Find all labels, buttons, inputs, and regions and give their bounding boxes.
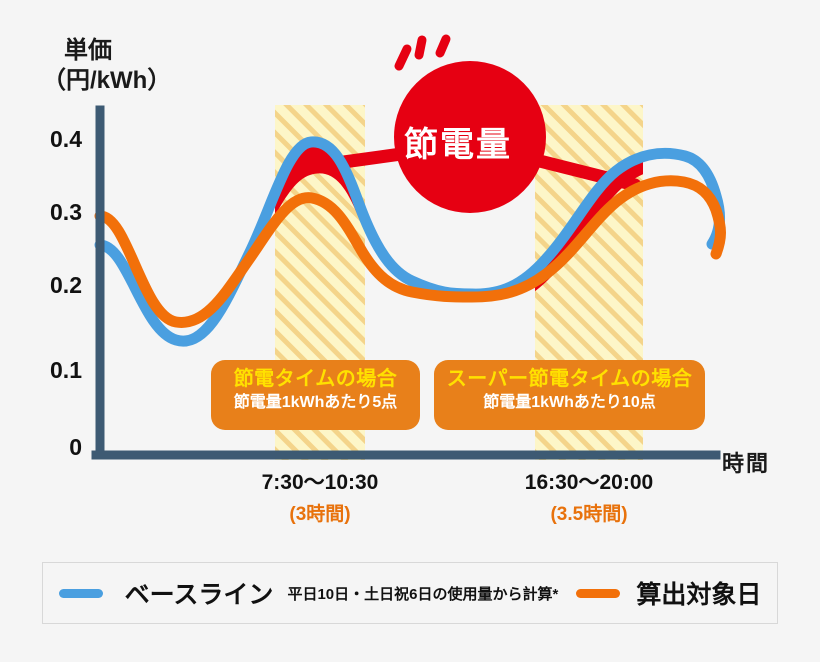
y-tick-0.3: 0.3 [22, 199, 82, 226]
x-label-band-1: 7:30〜10:30 (3時間) [220, 466, 420, 526]
y-tick-0.4: 0.4 [22, 126, 82, 153]
badge-setsuden-time[interactable]: 節電タイムの場合 節電量1kWhあたり5点 [211, 360, 420, 430]
y-tick-0: 0 [22, 434, 82, 461]
legend-label-baseline: ベースライン [125, 575, 274, 611]
sparkle-icon [399, 39, 446, 66]
chart-legend: ベースライン 平日10日・土日祝6日の使用量から計算* 算出対象日 [42, 562, 778, 624]
y-axis-title: 単価 （円/kWh） [64, 36, 171, 96]
y-tick-0.2: 0.2 [22, 272, 82, 299]
badge-1-title: 節電タイムの場合 [221, 367, 410, 391]
badge-2-sub: 節電量1kWhあたり10点 [444, 393, 695, 413]
x-label-band-1-duration: (3時間) [220, 499, 420, 526]
badge-super-setsuden-time[interactable]: スーパー節電タイムの場合 節電量1kWhあたり10点 [434, 360, 705, 430]
y-axis-title-line1: 単価 [64, 37, 112, 64]
x-axis-title: 時間 [722, 446, 770, 478]
x-label-band-2-time: 16:30〜20:00 [489, 466, 689, 496]
savings-callout-label: 節電量 [404, 117, 512, 166]
chart-root: 単価 （円/kWh） 時間 0.4 0.3 0.2 0.1 0 節電量 節電タイ… [0, 0, 820, 662]
legend-label-target: 算出対象日 [636, 575, 761, 611]
x-label-band-2-duration: (3.5時間) [489, 499, 689, 526]
x-label-band-2: 16:30〜20:00 (3.5時間) [489, 466, 689, 526]
badge-1-sub: 節電量1kWhあたり5点 [221, 393, 410, 413]
x-label-band-1-time: 7:30〜10:30 [220, 466, 420, 496]
legend-swatch-baseline [59, 589, 103, 598]
badge-2-title: スーパー節電タイムの場合 [444, 367, 695, 391]
y-tick-0.1: 0.1 [22, 357, 82, 384]
chart-plot-area: 単価 （円/kWh） 時間 0.4 0.3 0.2 0.1 0 節電量 節電タイ… [0, 0, 820, 545]
legend-swatch-target [576, 589, 620, 598]
legend-note: 平日10日・土日祝6日の使用量から計算* [287, 583, 558, 604]
y-axis-title-line2: （円/kWh） [42, 66, 171, 96]
